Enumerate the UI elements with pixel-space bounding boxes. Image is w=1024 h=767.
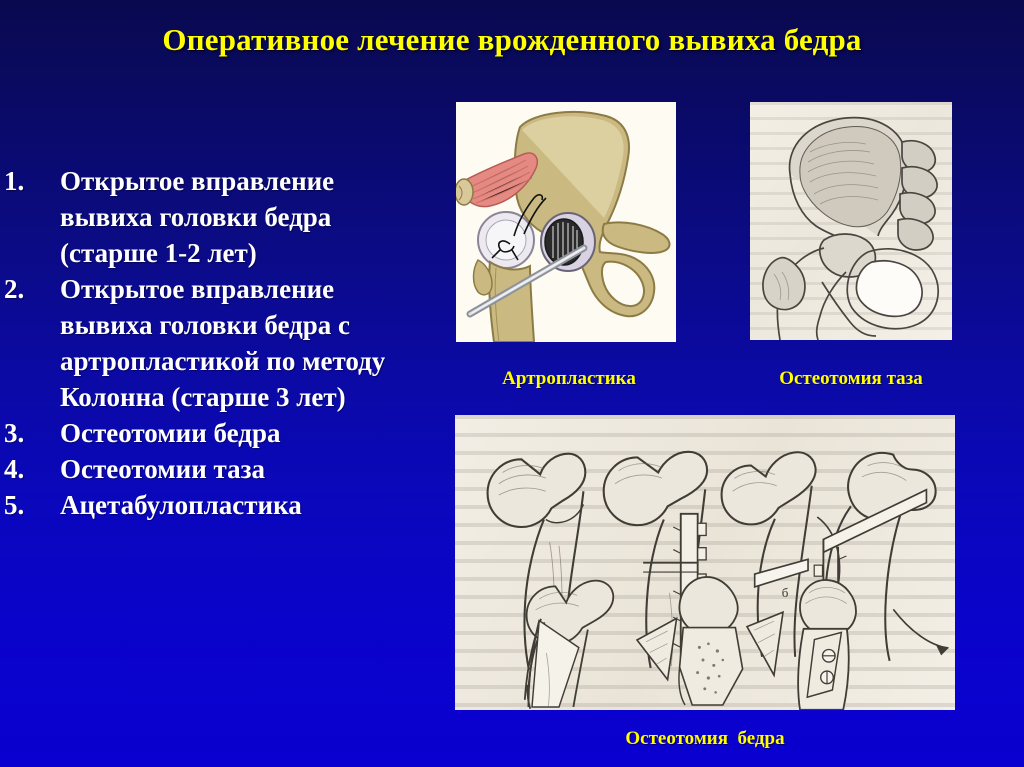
page-title: Оперативное лечение врожденного вывиха б…	[0, 22, 1024, 58]
list-item: 4. Остеотомии таза	[4, 451, 424, 487]
list-item-number: 2.	[4, 271, 60, 307]
pelvis-pencil-drawing	[750, 102, 952, 340]
treatment-list: 1.Открытое вправление вывиха головки бед…	[4, 163, 424, 523]
femoral-osteotomy-figure: а	[455, 415, 955, 710]
hip-joint-anatomical-illustration	[456, 102, 676, 342]
list-item-number: 5.	[4, 487, 60, 523]
list-item-number: 3.	[4, 415, 60, 451]
arthroplasty-figure	[456, 102, 676, 342]
list-item-number: 1.	[4, 163, 60, 199]
list-item-number: 4.	[4, 451, 60, 487]
list-item: 5. Ацетабулопластика	[4, 487, 424, 523]
femoral-osteotomy-caption: Остеотомия бедра	[455, 728, 955, 750]
femoral-osteotomy-diagram: а	[455, 415, 955, 710]
list-item-label: Ацетабулопластика	[60, 490, 302, 520]
arthroplasty-caption: Артропластика	[484, 368, 654, 390]
pelvic-osteotomy-figure	[750, 102, 952, 340]
list-item: 1.Открытое вправление вывиха головки бед…	[4, 163, 424, 271]
list-item-label: Остеотомии бедра	[60, 418, 280, 448]
list-item: 3. Остеотомии бедра	[4, 415, 424, 451]
panel-label-b: б	[782, 585, 789, 600]
list-item-label: Остеотомии таза	[60, 454, 265, 484]
list-item: 2. Открытое вправление вывиха головки бе…	[4, 271, 424, 415]
list-item-label: Открытое вправление вывиха головки бедра…	[60, 166, 334, 268]
list-item-label: Открытое вправление вывиха головки бедра…	[60, 274, 385, 412]
pelvic-osteotomy-caption: Остеотомия таза	[746, 368, 956, 390]
